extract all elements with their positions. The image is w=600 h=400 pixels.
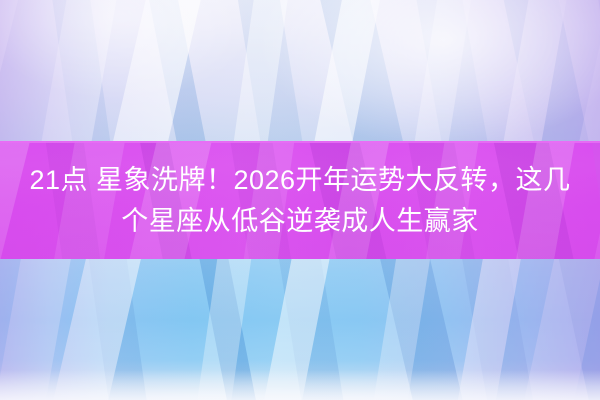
headline-line-2: 个星座从低谷逆袭成人生赢家 [121, 202, 479, 240]
promo-banner-image: 21点 星象洗牌！2026开年运势大反转，这几 个星座从低谷逆袭成人生赢家 [0, 0, 600, 400]
headline-text-block: 21点 星象洗牌！2026开年运势大反转，这几 个星座从低谷逆袭成人生赢家 [0, 141, 600, 259]
background-bottom-haze [0, 370, 600, 400]
headline-line-1: 21点 星象洗牌！2026开年运势大反转，这几 [29, 161, 570, 199]
